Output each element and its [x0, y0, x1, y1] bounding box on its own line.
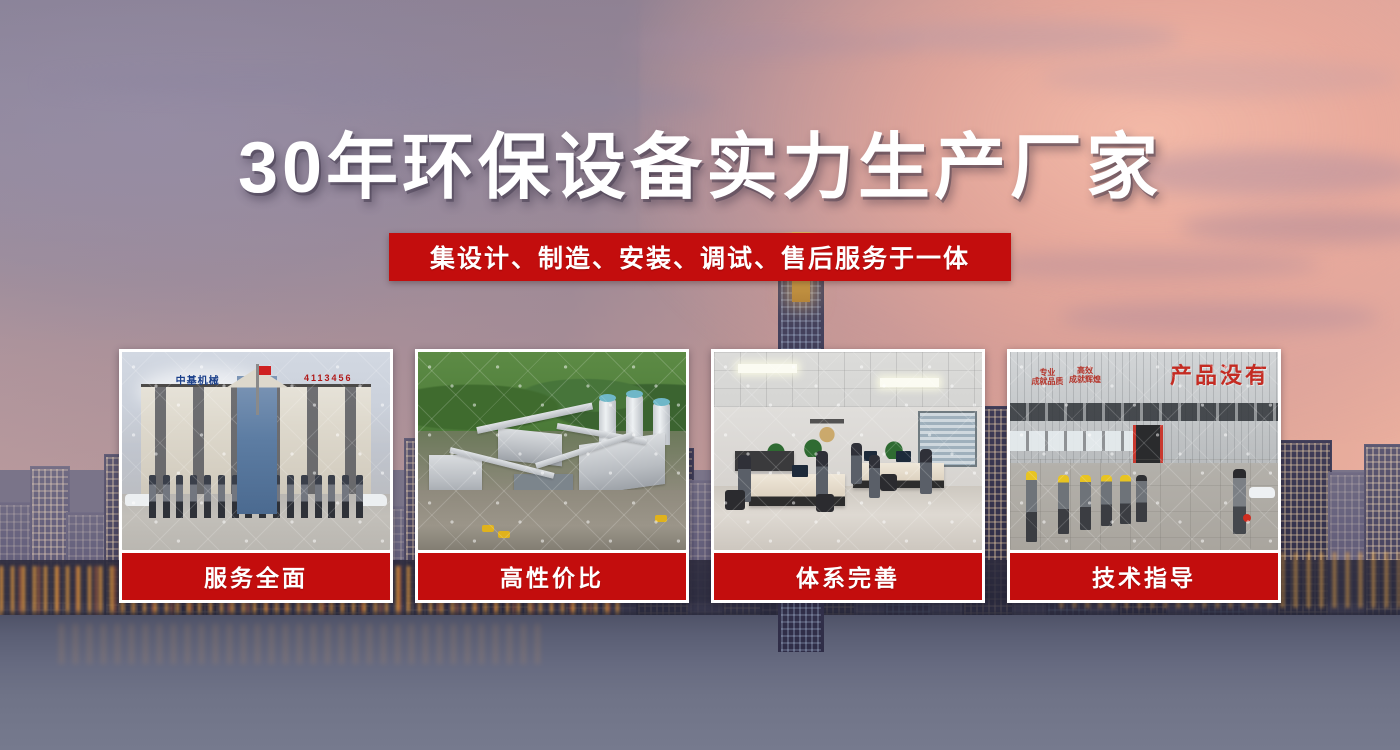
- feature-card-training[interactable]: 产品没有 专业 成就品质 高效 成就辉煌: [1007, 349, 1281, 603]
- cloud: [1040, 58, 1400, 98]
- card-caption-bar: 高性价比: [418, 553, 686, 600]
- subtitle-banner: 集设计、制造、安装、调试、售后服务于一体: [389, 233, 1011, 281]
- card-caption-bar: 服务全面: [122, 553, 390, 600]
- card-caption-bar: 技术指导: [1010, 553, 1278, 600]
- flag-icon: [256, 364, 259, 415]
- factory-slogan-left-sub: 成就品质: [1031, 377, 1063, 386]
- feature-card-service[interactable]: 中基机械 4113456 服务全面: [119, 349, 393, 603]
- cloud: [620, 30, 920, 56]
- factory-banner-text: 产品没有: [1170, 358, 1270, 390]
- feature-card-row: 中基机械 4113456 服务全面: [119, 349, 1281, 603]
- factory-door: [1133, 425, 1162, 463]
- factory-slogan-right: 高效: [1069, 366, 1101, 375]
- card-photo-office-interior: [714, 352, 982, 550]
- card-photo-plant-aerial: [418, 352, 686, 550]
- hero-banner: 30年环保设备实力生产厂家 集设计、制造、安装、调试、售后服务于一体 中基机械 …: [0, 0, 1400, 750]
- factory-slogan-right-sub: 成就辉煌: [1069, 375, 1101, 384]
- page-title: 30年环保设备实力生产厂家: [0, 132, 1400, 204]
- card-photo-office-building: 中基机械 4113456: [122, 352, 390, 550]
- card-caption-text: 技术指导: [1092, 559, 1196, 593]
- factory-slogan-left: 专业: [1031, 368, 1063, 377]
- feature-card-system[interactable]: 体系完善: [711, 349, 985, 603]
- card-photo-worker-training: 产品没有 专业 成就品质 高效 成就辉煌: [1010, 352, 1278, 550]
- cloud: [880, 20, 1180, 54]
- feature-card-value[interactable]: 高性价比: [415, 349, 689, 603]
- building-sign-text: 中基机械: [176, 372, 220, 387]
- card-caption-text: 服务全面: [204, 559, 308, 593]
- card-caption-text: 体系完善: [796, 559, 900, 593]
- subtitle-text: 集设计、制造、安装、调试、售后服务于一体: [430, 239, 970, 275]
- river-reflections: [60, 624, 540, 664]
- building-phone-text: 4113456: [304, 373, 353, 383]
- cloud: [300, 86, 720, 116]
- card-caption-text: 高性价比: [500, 559, 604, 593]
- card-caption-bar: 体系完善: [714, 553, 982, 600]
